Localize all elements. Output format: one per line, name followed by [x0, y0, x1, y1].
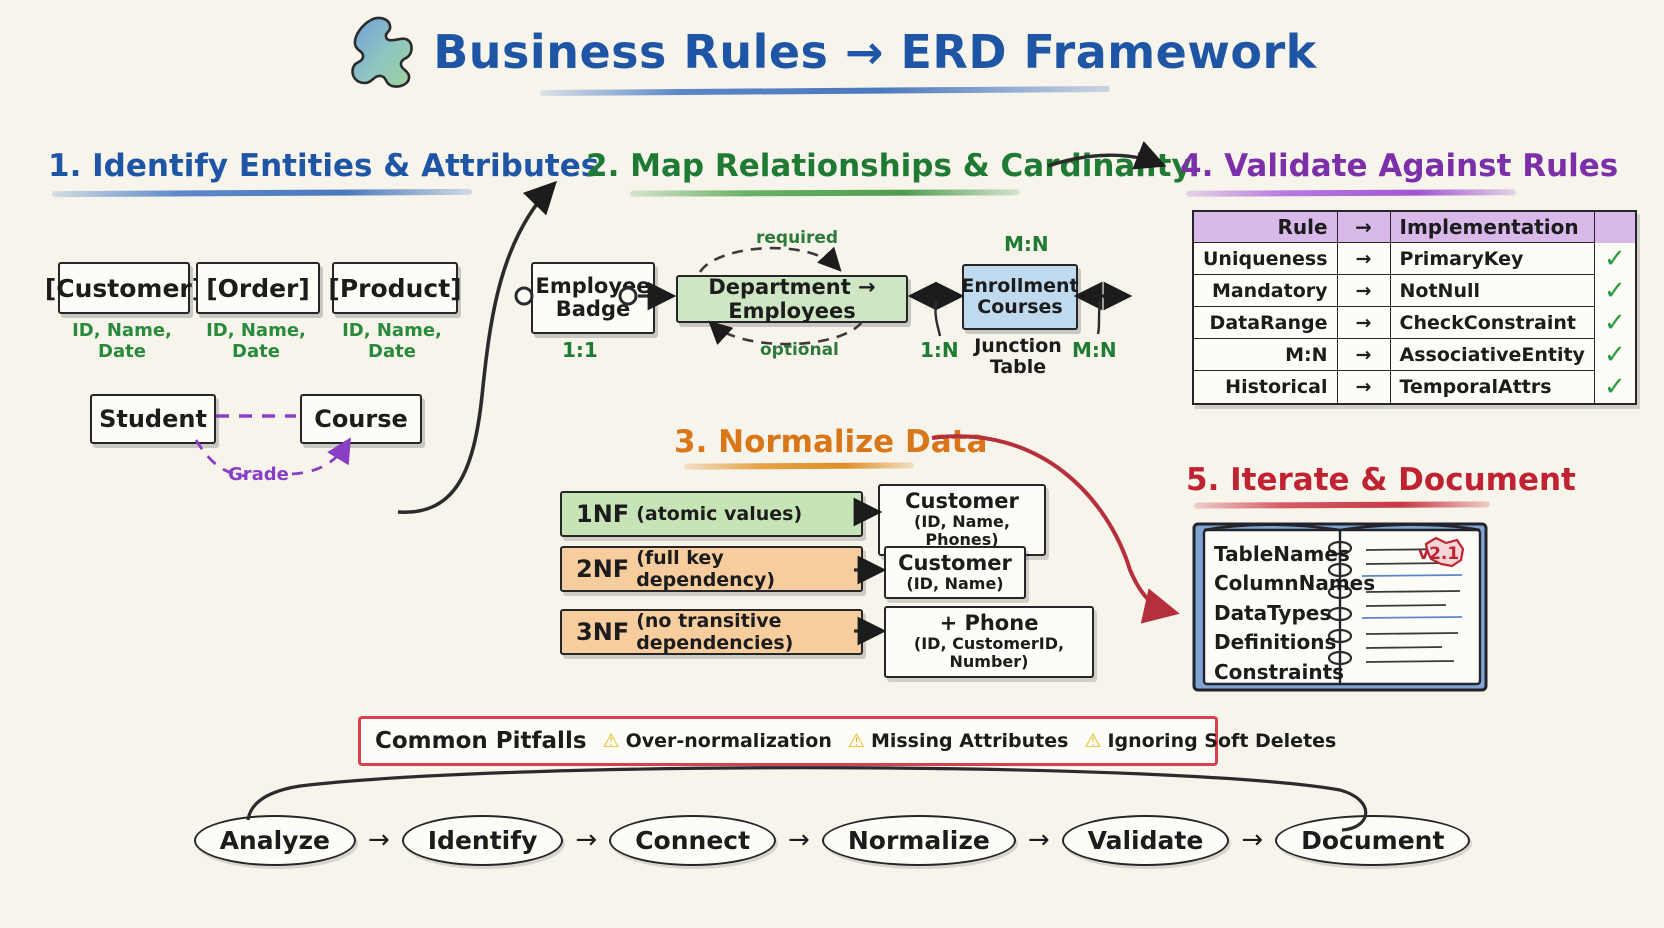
flow-arrow-icon: →: [1016, 825, 1062, 855]
rule-name: Mandatory: [1193, 275, 1337, 307]
rule-arrow-icon: →: [1337, 339, 1390, 371]
pitfall-item: ⚠ Ignoring Soft Deletes: [1084, 730, 1336, 752]
entity-box-student[interactable]: Student: [90, 394, 216, 444]
rule-implementation: AssociativeEntity: [1390, 339, 1594, 371]
book-item: DataTypes: [1214, 599, 1330, 628]
puzzle-piece-icon: [347, 14, 419, 90]
table-header-arrow: →: [1337, 211, 1390, 243]
normal-form-description: (atomic values): [636, 503, 802, 525]
flow-node-connect[interactable]: Connect: [609, 815, 776, 866]
loop-label-optional: optional: [760, 340, 839, 360]
warning-triangle-icon: ⚠: [1084, 732, 1101, 751]
rule-arrow-icon: →: [1337, 371, 1390, 404]
rule-name: M:N: [1193, 339, 1337, 371]
entity-attributes-product: ID, Name, Date: [328, 320, 456, 362]
table-row[interactable]: Historical → TemporalAttrs ✓: [1193, 371, 1636, 404]
flow-node-normalize[interactable]: Normalize: [822, 815, 1016, 866]
pitfall-label: Ignoring Soft Deletes: [1107, 730, 1336, 752]
entity-box-customer[interactable]: [Customer]: [58, 262, 190, 314]
pitfall-item: ⚠ Over-normalization: [603, 730, 832, 752]
output-subtitle: (ID, Name, Phones): [890, 513, 1034, 550]
entity-box-product[interactable]: [Product]: [332, 262, 458, 314]
output-subtitle: (ID, CustomerID, Number): [896, 635, 1082, 672]
flow-node-validate[interactable]: Validate: [1062, 815, 1230, 866]
relationship-label-grade: Grade: [228, 464, 289, 485]
entity-attributes-customer: ID, Name, Date: [58, 320, 186, 362]
junction-caption-line2: Table: [962, 357, 1074, 378]
book-item: TableNames: [1214, 540, 1330, 569]
entity-label: Department → Employees: [678, 275, 906, 323]
cardinality-1-1: 1:1: [562, 338, 598, 362]
rule-name: Historical: [1193, 371, 1337, 404]
normal-form-row-1nf[interactable]: 1NF (atomic values): [560, 491, 863, 537]
entity-label-line2: Courses: [977, 297, 1062, 318]
output-title: + Phone: [896, 612, 1082, 635]
section-3-underline: [684, 462, 914, 469]
section-2-underline: [630, 189, 1020, 196]
loop-label-required: required: [756, 228, 838, 248]
rule-implementation: TemporalAttrs: [1390, 371, 1594, 404]
normal-form-output-3nf[interactable]: + Phone (ID, CustomerID, Number): [884, 606, 1094, 678]
check-icon: ✓: [1604, 308, 1626, 338]
output-title: Customer: [896, 552, 1014, 575]
page-title-text: Business Rules → ERD Framework: [433, 25, 1317, 79]
rule-name: DataRange: [1193, 307, 1337, 339]
cardinality-m-n-top: M:N: [1004, 232, 1049, 256]
normal-form-level: 3NF: [576, 618, 629, 646]
normal-form-description: (no transitive dependencies): [636, 610, 861, 654]
warning-triangle-icon: ⚠: [848, 732, 865, 751]
section-2-heading: 2. Map Relationships & Cardinality: [586, 148, 1192, 184]
normal-form-level: 2NF: [576, 555, 629, 583]
rule-implementation: CheckConstraint: [1390, 307, 1594, 339]
rule-arrow-icon: →: [1337, 275, 1390, 307]
table-row[interactable]: Mandatory → NotNull ✓: [1193, 275, 1636, 307]
entity-label-line1: Enrollment: [961, 276, 1078, 297]
validation-rules-table: Rule → Implementation Uniqueness → Prima…: [1192, 210, 1637, 405]
rule-implementation: NotNull: [1390, 275, 1594, 307]
table-row[interactable]: DataRange → CheckConstraint ✓: [1193, 307, 1636, 339]
flow-node-document[interactable]: Document: [1275, 815, 1470, 866]
section-3-heading: 3. Normalize Data: [674, 424, 987, 460]
normal-form-output-2nf[interactable]: Customer (ID, Name): [884, 546, 1026, 599]
pitfall-label: Over-normalization: [626, 730, 832, 752]
entity-label: Student: [99, 405, 207, 433]
normal-form-row-3nf[interactable]: 3NF (no transitive dependencies): [560, 609, 863, 655]
entity-attributes-order: ID, Name, Date: [192, 320, 320, 362]
book-contents-list: TableNames ColumnNames DataTypes Definit…: [1214, 540, 1330, 687]
infographic-canvas: Business Rules → ERD Framework 1. Identi…: [0, 0, 1664, 928]
pitfall-label: Missing Attributes: [871, 730, 1068, 752]
flow-node-analyze[interactable]: Analyze: [194, 815, 356, 866]
check-icon: ✓: [1604, 372, 1626, 402]
rule-arrow-icon: →: [1337, 243, 1390, 275]
table-header-implementation: Implementation: [1390, 211, 1594, 243]
normal-form-level: 1NF: [576, 500, 629, 528]
section-1-heading: 1. Identify Entities & Attributes: [48, 148, 599, 184]
entity-label-line1: Employee: [535, 275, 650, 298]
table-row[interactable]: Uniqueness → PrimaryKey ✓: [1193, 243, 1636, 275]
section-5-heading: 5. Iterate & Document: [1186, 462, 1576, 498]
entity-box-department-employees[interactable]: Department → Employees: [676, 275, 908, 323]
cardinality-1-n: 1:N: [920, 338, 959, 362]
table-row[interactable]: M:N → AssociativeEntity ✓: [1193, 339, 1636, 371]
flow-arrow-icon: →: [776, 825, 822, 855]
output-subtitle: (ID, Name): [896, 575, 1014, 593]
documentation-book[interactable]: TableNames ColumnNames DataTypes Definit…: [1190, 518, 1490, 694]
process-flow-chain: Analyze → Identify → Connect → Normalize…: [0, 790, 1664, 890]
flow-arrow-icon: →: [1229, 825, 1275, 855]
common-pitfalls-bar: Common Pitfalls ⚠ Over-normalization ⚠ M…: [358, 716, 1218, 766]
entity-box-employee-badge[interactable]: Employee Badge: [531, 262, 655, 334]
book-item: Constraints: [1214, 658, 1330, 687]
section-4-underline: [1186, 189, 1516, 196]
entity-box-enrollment-courses[interactable]: Enrollment Courses: [962, 264, 1078, 330]
table-header-row: Rule → Implementation: [1193, 211, 1636, 243]
section-5-underline: [1194, 501, 1490, 508]
output-title: Customer: [890, 490, 1034, 513]
pitfall-item: ⚠ Missing Attributes: [848, 730, 1069, 752]
pitfalls-title: Common Pitfalls: [375, 728, 587, 754]
table-header-rule: Rule: [1193, 211, 1337, 243]
rule-arrow-icon: →: [1337, 307, 1390, 339]
rule-name: Uniqueness: [1193, 243, 1337, 275]
entity-label: [Customer]: [45, 274, 203, 303]
flow-node-identify[interactable]: Identify: [402, 815, 564, 866]
book-item: Definitions: [1214, 628, 1330, 657]
entity-label: [Order]: [206, 274, 310, 303]
flow-arrow-icon: →: [563, 825, 609, 855]
cardinality-m-n-right: M:N: [1072, 338, 1117, 362]
entity-box-course[interactable]: Course: [300, 394, 422, 444]
normal-form-description: (full key dependency): [636, 547, 861, 591]
warning-triangle-icon: ⚠: [603, 732, 620, 751]
entity-label-line2: Badge: [556, 298, 630, 321]
check-icon: ✓: [1604, 244, 1626, 274]
flow-arrow-icon: →: [356, 825, 402, 855]
table-header-status: [1594, 211, 1635, 243]
version-badge: v2.1: [1418, 544, 1459, 564]
entity-label: Course: [314, 405, 408, 433]
rule-implementation: PrimaryKey: [1390, 243, 1594, 275]
entity-label: [Product]: [328, 274, 461, 303]
check-icon: ✓: [1604, 340, 1626, 370]
normal-form-row-2nf[interactable]: 2NF (full key dependency): [560, 546, 863, 592]
entity-box-order[interactable]: [Order]: [196, 262, 320, 314]
section-1-underline: [52, 189, 472, 197]
check-icon: ✓: [1604, 276, 1626, 306]
junction-caption-line1: Junction: [962, 336, 1074, 357]
book-item: ColumnNames: [1214, 569, 1330, 598]
page-title: Business Rules → ERD Framework: [0, 14, 1664, 90]
junction-table-caption: Junction Table: [962, 336, 1074, 378]
section-4-heading: 4. Validate Against Rules: [1180, 148, 1618, 184]
